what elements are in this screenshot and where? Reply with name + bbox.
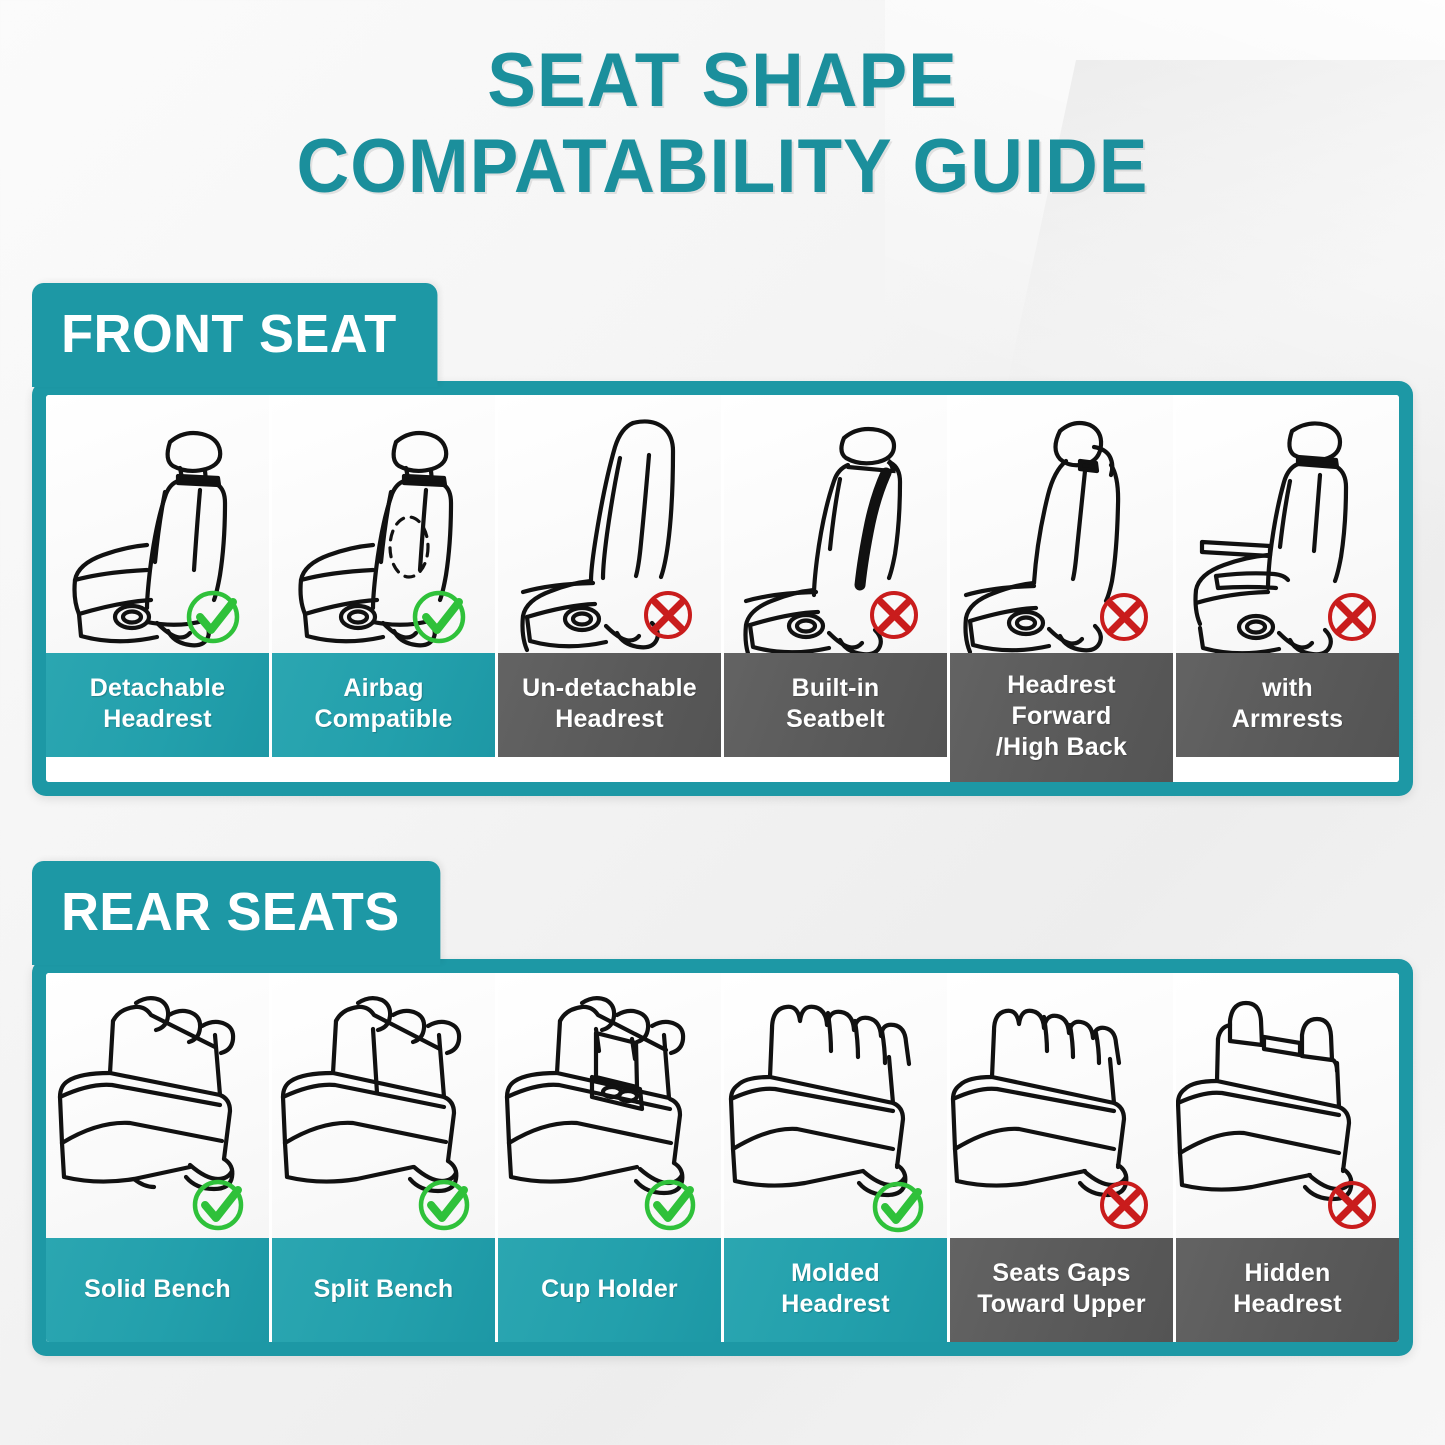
caption-line-2: Headrest <box>781 1289 890 1320</box>
caption-line-1: Headrest Forward <box>956 670 1167 732</box>
cell-seat-gaps-toward-upper[interactable]: Seats Gaps Toward Upper <box>950 973 1173 1342</box>
caption-line-1: Molded <box>781 1258 890 1289</box>
caption-line-1: Seats Gaps <box>977 1258 1146 1289</box>
cell-headrest-forward-high-back[interactable]: Headrest Forward /High Back <box>950 395 1173 782</box>
cell-with-armrests[interactable]: with Armrests <box>1176 395 1399 782</box>
cell-detachable-headrest[interactable]: Detachable Headrest <box>46 395 269 782</box>
caption-headrest-forward-high-back: Headrest Forward /High Back <box>950 653 1173 782</box>
illustration-seat-builtin-seatbelt <box>724 395 947 653</box>
caption-line-1: Built-in <box>786 673 885 704</box>
illustration-seat-undetachable-headrest <box>498 395 721 653</box>
caption-line-2: Headrest <box>1233 1289 1342 1320</box>
cross-circle-icon <box>1102 595 1146 639</box>
section-front-seat: FRONT SEAT <box>32 283 1413 796</box>
cell-builtin-seatbelt[interactable]: Built-in Seatbelt <box>724 395 947 782</box>
cross-circle-icon <box>1102 1183 1146 1227</box>
page-title-line-2: COMPATABILITY GUIDE <box>29 124 1416 210</box>
check-circle-icon <box>875 1184 921 1230</box>
caption-with-armrests: with Armrests <box>1176 653 1399 757</box>
cell-molded-headrest[interactable]: Molded Headrest <box>724 973 947 1342</box>
caption-seat-gaps-toward-upper: Seats Gaps Toward Upper <box>950 1238 1173 1342</box>
cell-solid-bench[interactable]: Solid Bench <box>46 973 269 1342</box>
section-heading-rear-seats: REAR SEATS <box>32 861 440 965</box>
illustration-bench-cup-holder <box>498 973 721 1238</box>
cross-circle-icon <box>646 593 690 637</box>
check-circle-icon <box>189 593 237 641</box>
caption-line-2: /High Back <box>956 732 1167 763</box>
caption-line-2: Armrests <box>1232 704 1343 735</box>
caption-line-2: Seatbelt <box>786 704 885 735</box>
section-heading-front-seat: FRONT SEAT <box>32 283 437 387</box>
illustration-seat-headrest-forward <box>950 395 1173 653</box>
caption-line-1: Cup Holder <box>541 1274 678 1305</box>
page-title: SEAT SHAPE COMPATABILITY GUIDE <box>29 38 1416 210</box>
cell-airbag-compatible[interactable]: Airbag Compatible <box>272 395 495 782</box>
illustration-bench-solid <box>46 973 269 1238</box>
caption-line-1: with <box>1232 673 1343 704</box>
cell-hidden-headrest[interactable]: Hidden Headrest <box>1176 973 1399 1342</box>
caption-undetachable-headrest: Un-detachable Headrest <box>498 653 721 757</box>
caption-line-2: Headrest <box>522 704 697 735</box>
illustration-bench-hidden-headrest <box>1176 973 1399 1238</box>
section-rear-seats: REAR SEATS <box>32 861 1413 1356</box>
caption-line-1: Un-detachable <box>522 673 697 704</box>
illustration-bench-seat-gaps-upper <box>950 973 1173 1238</box>
illustration-bench-split <box>272 973 495 1238</box>
caption-line-2: Headrest <box>90 704 225 735</box>
check-circle-icon <box>195 1182 241 1228</box>
cell-undetachable-headrest[interactable]: Un-detachable Headrest <box>498 395 721 782</box>
caption-builtin-seatbelt: Built-in Seatbelt <box>724 653 947 757</box>
caption-hidden-headrest: Hidden Headrest <box>1176 1238 1399 1342</box>
caption-detachable-headrest: Detachable Headrest <box>46 653 269 757</box>
caption-line-2: Toward Upper <box>977 1289 1146 1320</box>
caption-line-1: Hidden <box>1233 1258 1342 1289</box>
illustration-seat-with-armrests <box>1176 395 1399 653</box>
caption-line-1: Split Bench <box>314 1274 454 1305</box>
caption-molded-headrest: Molded Headrest <box>724 1238 947 1342</box>
cross-circle-icon <box>872 593 916 637</box>
cross-circle-icon <box>1330 595 1374 639</box>
illustration-bench-molded-headrest <box>724 973 947 1238</box>
caption-split-bench: Split Bench <box>272 1238 495 1342</box>
caption-line-1: Solid Bench <box>84 1274 231 1305</box>
caption-line-1: Airbag <box>314 673 452 704</box>
check-circle-icon <box>415 593 463 641</box>
cell-cup-holder[interactable]: Cup Holder <box>498 973 721 1342</box>
check-circle-icon <box>647 1182 693 1228</box>
illustration-seat-detachable-headrest <box>46 395 269 653</box>
front-seat-grid: Detachable Headrest <box>46 395 1399 782</box>
caption-cup-holder: Cup Holder <box>498 1238 721 1342</box>
check-circle-icon <box>421 1182 467 1228</box>
caption-solid-bench: Solid Bench <box>46 1238 269 1342</box>
rear-seats-panel: Solid Bench <box>32 959 1413 1356</box>
rear-seats-grid: Solid Bench <box>46 973 1399 1342</box>
illustration-seat-airbag-compatible <box>272 395 495 653</box>
cell-split-bench[interactable]: Split Bench <box>272 973 495 1342</box>
caption-line-1: Detachable <box>90 673 225 704</box>
cross-circle-icon <box>1330 1183 1374 1227</box>
caption-airbag-compatible: Airbag Compatible <box>272 653 495 757</box>
front-seat-panel: Detachable Headrest <box>32 381 1413 796</box>
caption-line-2: Compatible <box>314 704 452 735</box>
page-title-line-1: SEAT SHAPE <box>487 38 957 123</box>
